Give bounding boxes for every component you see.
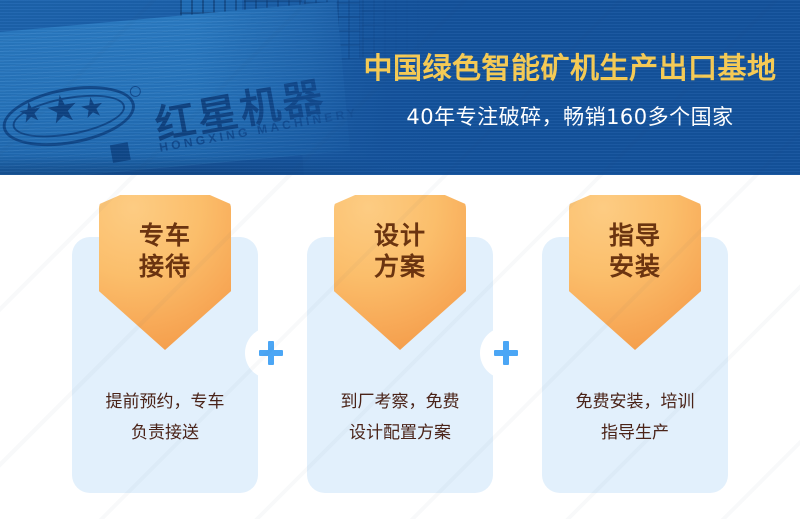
- service-card-2[interactable]: 设计 方案 到厂考察，免费 设计配置方案: [307, 237, 493, 493]
- desc-line-1: 提前预约，专车: [72, 387, 258, 418]
- badge-line-2: 方案: [374, 252, 426, 283]
- service-card-1[interactable]: 专车 接待 提前预约，专车 负责接送: [72, 237, 258, 493]
- badge-line-2: 安装: [609, 252, 661, 283]
- badge-line-2: 接待: [139, 252, 191, 283]
- service-description-2: 到厂考察，免费 设计配置方案: [307, 387, 493, 450]
- promo-page: 红星机器 HONGXING MACHINERY 中国绿色智能矿机生产出口基地 4…: [0, 0, 800, 519]
- desc-line-2: 设计配置方案: [307, 418, 493, 449]
- banner-subtitle: 40年专注破碎，畅销160多个国家: [406, 101, 733, 131]
- plus-icon: [259, 341, 283, 365]
- service-cards-section: 专车 接待 提前预约，专车 负责接送 设计 方案 到厂考察，免费 设计配置方案: [0, 175, 800, 519]
- badge-line-1: 专车: [139, 221, 191, 252]
- desc-line-1: 到厂考察，免费: [307, 387, 493, 418]
- desc-line-2: 负责接送: [72, 418, 258, 449]
- banner-title: 中国绿色智能矿机生产出口基地: [363, 45, 776, 87]
- desc-line-1: 免费安装，培训: [542, 387, 728, 418]
- service-card-3[interactable]: 指导 安装 免费安装，培训 指导生产: [542, 237, 728, 493]
- service-description-1: 提前预约，专车 负责接送: [72, 387, 258, 450]
- plus-connector-2: [480, 327, 532, 379]
- plus-icon: [494, 341, 518, 365]
- badge-line-1: 指导: [609, 221, 661, 252]
- hero-banner: 红星机器 HONGXING MACHINERY 中国绿色智能矿机生产出口基地 4…: [0, 0, 800, 175]
- service-badge-shield-3: 指导 安装: [569, 195, 701, 350]
- plus-connector-1: [245, 327, 297, 379]
- service-badge-shield-1: 专车 接待: [99, 195, 231, 350]
- banner-text-group: 中国绿色智能矿机生产出口基地 40年专注破碎，畅销160多个国家: [355, 0, 785, 175]
- service-badge-shield-2: 设计 方案: [334, 195, 466, 350]
- badge-line-1: 设计: [374, 221, 426, 252]
- desc-line-2: 指导生产: [542, 418, 728, 449]
- service-description-3: 免费安装，培训 指导生产: [542, 387, 728, 450]
